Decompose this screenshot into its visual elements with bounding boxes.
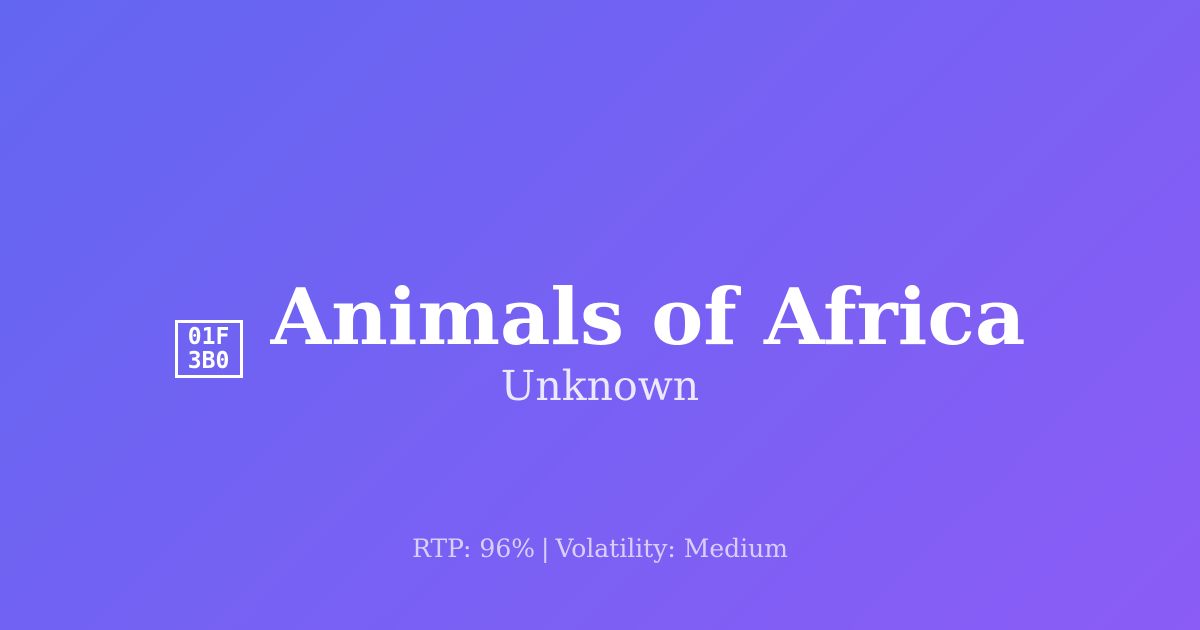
codepoint-high: 01F bbox=[188, 325, 230, 349]
og-card: 01F 3B0 Animals of Africa Unknown RTP: 9… bbox=[0, 0, 1200, 630]
rtp-value: RTP: 96% bbox=[412, 534, 535, 563]
provider-label: Unknown bbox=[0, 363, 1200, 410]
volatility-value: Volatility: Medium bbox=[555, 534, 787, 563]
game-meta: RTP: 96%|Volatility: Medium bbox=[0, 534, 1200, 564]
page-title: Animals of Africa bbox=[271, 279, 1026, 357]
meta-separator: | bbox=[535, 534, 555, 563]
